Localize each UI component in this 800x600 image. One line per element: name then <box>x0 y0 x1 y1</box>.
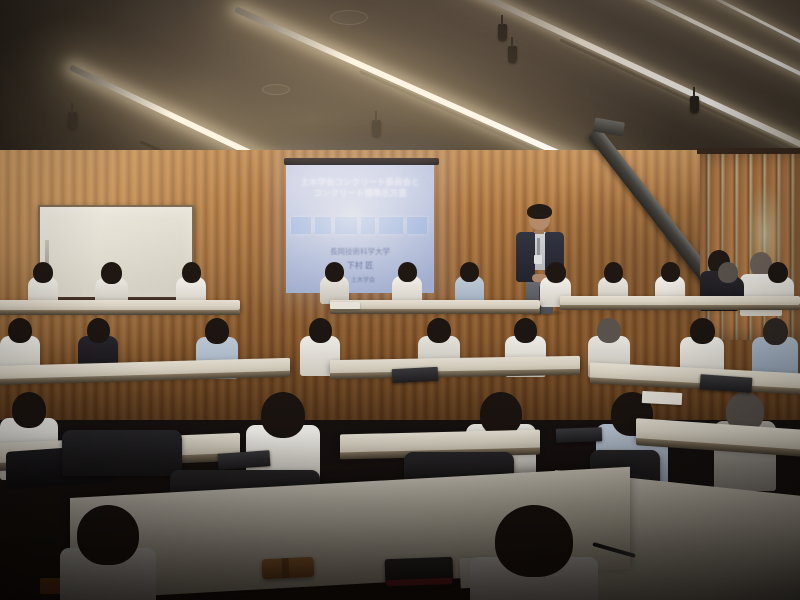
laptop <box>556 427 602 443</box>
attendee-head <box>460 262 479 282</box>
presenter-lanyard <box>537 238 540 256</box>
leather-pen-case <box>262 557 315 580</box>
attendee-head <box>325 262 344 282</box>
attendee-head <box>661 262 680 282</box>
attendee-head <box>763 318 788 345</box>
lecture-hall-photo: 土木学会コンクリート委員会と コンクリート標準示方書 長岡技術科学大学 下村 匠… <box>0 0 800 600</box>
desk-edge <box>0 310 240 315</box>
screen-roller-case <box>284 158 439 165</box>
desk-surface <box>0 300 240 310</box>
attendee-head <box>101 262 122 284</box>
attendee-head <box>546 262 566 283</box>
wallet <box>385 557 454 587</box>
attendee-head <box>33 262 53 283</box>
pendant-light-icon <box>690 96 699 113</box>
attendee-head <box>514 318 537 343</box>
attendee-head <box>718 262 738 283</box>
attendee-head <box>309 318 332 343</box>
attendee-head <box>495 505 573 577</box>
desk-edge <box>560 305 800 310</box>
louver-frame <box>697 148 800 154</box>
attendee-head <box>597 318 621 343</box>
ceiling-vent-icon <box>262 84 290 95</box>
attendee-head <box>604 262 623 283</box>
desk-edge <box>330 309 540 314</box>
pendant-light-icon <box>498 24 507 41</box>
attendee-head <box>690 318 715 344</box>
attendee-head <box>427 318 451 343</box>
attendee <box>60 505 156 600</box>
attendee-head <box>768 262 788 283</box>
paper-sheet <box>642 391 683 405</box>
attendee-head <box>8 318 32 343</box>
pendant-light-icon <box>68 112 77 129</box>
attendee-head <box>205 318 229 344</box>
glasses-icon <box>531 215 548 220</box>
pendant-light-icon <box>372 120 381 137</box>
laptop <box>392 367 439 383</box>
attendee-head <box>87 318 110 343</box>
attendee-head <box>77 505 139 565</box>
pendant-light-icon <box>508 46 517 63</box>
attendee-head <box>12 392 46 428</box>
attendee <box>470 505 598 600</box>
ceiling-vent-icon <box>330 10 368 25</box>
chair <box>62 430 182 476</box>
paper-sheet <box>330 302 360 309</box>
desk-surface <box>560 296 800 305</box>
attendee-head <box>182 262 201 283</box>
attendee-head <box>261 392 305 438</box>
wallet-trim <box>386 578 452 586</box>
attendee-head <box>398 262 417 282</box>
desk-surface <box>330 300 540 309</box>
